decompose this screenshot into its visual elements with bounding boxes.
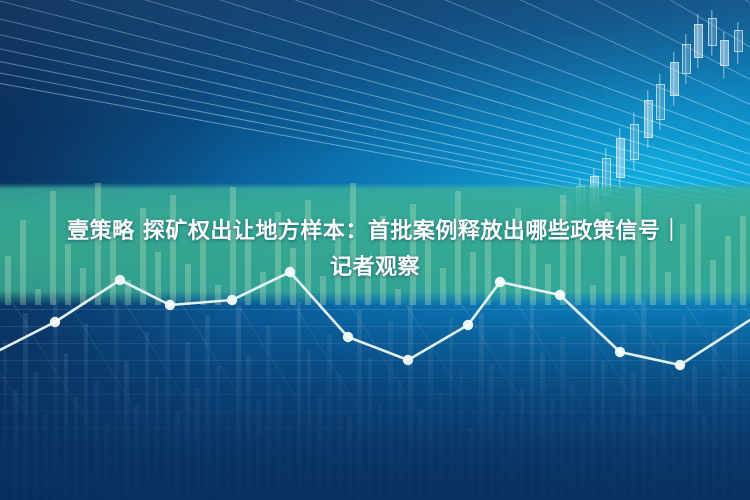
line-data-point <box>555 290 565 300</box>
line-data-point <box>227 295 237 305</box>
line-data-point <box>463 320 473 330</box>
line-data-point <box>403 355 413 365</box>
line-data-point <box>615 347 625 357</box>
line-data-point <box>285 267 295 277</box>
line-data-point <box>115 275 125 285</box>
line-data-point <box>50 317 60 327</box>
trend-line-chart <box>0 0 750 500</box>
article-cover-banner: 壹策略 探矿权出让地方样本：首批案例释放出哪些政策信号｜ 记者观察 <box>0 0 750 500</box>
line-data-point <box>675 360 685 370</box>
line-data-point <box>343 332 353 342</box>
line-data-point <box>165 300 175 310</box>
line-data-point <box>495 277 505 287</box>
